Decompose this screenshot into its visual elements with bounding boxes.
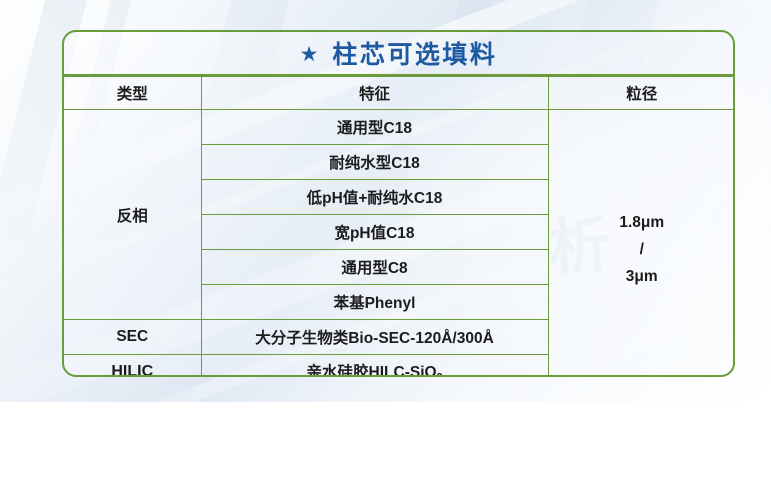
column-header-particle-size: 粒径	[548, 77, 735, 110]
column-header-type: 类型	[64, 77, 201, 110]
cell-feature: 大分子生物类Bio-SEC-120Å/300Å	[201, 320, 548, 355]
cell-feature-subscript: 2	[437, 372, 443, 377]
cell-feature: 苯基Phenyl	[201, 285, 548, 320]
cell-feature: 通用型C8	[201, 250, 548, 285]
particle-size-separator: /	[549, 236, 736, 263]
table-body: 反相 通用型C18 1.8μm / 3μm 耐纯水型C18 低pH值+耐纯水C1…	[64, 110, 735, 378]
cell-particle-size: 1.8μm / 3μm	[548, 110, 735, 378]
table-header-row: 类型 特征 粒径	[64, 77, 735, 110]
cell-feature: 耐纯水型C18	[201, 145, 548, 180]
cell-feature: 宽pH值C18	[201, 215, 548, 250]
star-icon: ★	[300, 44, 319, 65]
column-header-feature: 特征	[201, 77, 548, 110]
cell-feature: 通用型C18	[201, 110, 548, 145]
cell-feature: 低pH值+耐纯水C18	[201, 180, 548, 215]
table-header: 类型 特征 粒径	[64, 77, 735, 110]
table-row: 反相 通用型C18 1.8μm / 3μm	[64, 110, 735, 145]
cell-feature-text: 亲水硅胶HILC-SiO	[307, 364, 437, 377]
particle-size-line-1: 1.8μm	[619, 214, 664, 231]
cell-type-sec: SEC	[64, 320, 201, 355]
cell-type-reverse-phase: 反相	[64, 110, 201, 320]
packing-material-table-card: ★ 柱芯可选填料 类型 特征 粒径 反相 通用型C18 1.8μm / 3μm	[62, 30, 735, 377]
packing-material-table: 类型 特征 粒径 反相 通用型C18 1.8μm / 3μm 耐纯水型C18 低…	[64, 76, 735, 377]
particle-size-line-2: 3μm	[626, 268, 658, 285]
page-title: 柱芯可选填料	[332, 35, 497, 71]
table-title-band: ★ 柱芯可选填料	[64, 32, 733, 76]
cell-feature: 亲水硅胶HILC-SiO2	[201, 355, 548, 378]
cell-type-hilic: HILIC	[64, 355, 201, 378]
